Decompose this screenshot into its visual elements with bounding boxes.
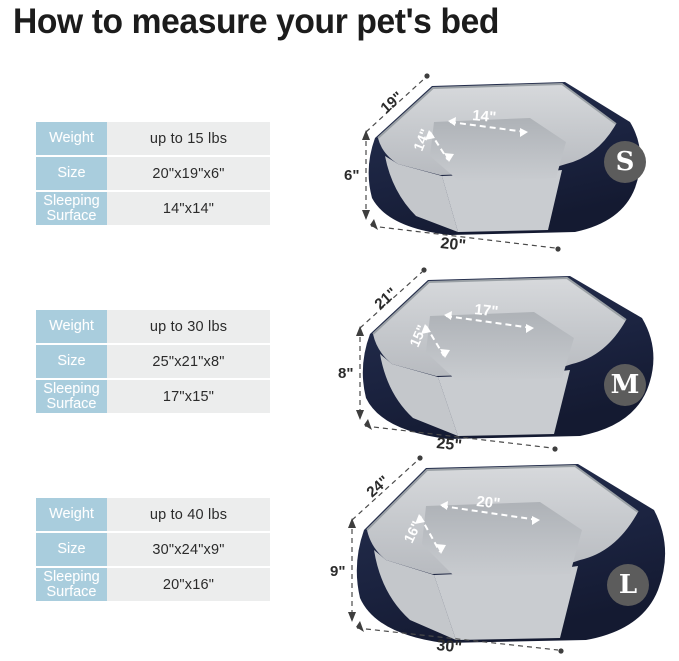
table-row: Size 20"x19"x6" — [36, 157, 270, 192]
spec-label-size: Size — [36, 345, 107, 380]
spec-value-sleeping-surface: 20"x16" — [107, 568, 270, 601]
inner-dim-label-width: 14" — [472, 107, 497, 126]
spec-table-large: Weight up to 40 lbs Size 30"x24"x9" Slee… — [36, 498, 270, 601]
spec-label-line2: Surface — [36, 397, 107, 412]
size-badge-large: L — [607, 564, 649, 606]
size-badge-small: S — [604, 141, 646, 183]
spec-label-sleeping-surface: Sleeping Surface — [36, 380, 107, 413]
dim-label-depth: 19" — [377, 89, 406, 117]
inner-dim-label-width: 17" — [474, 301, 499, 320]
infographic-page: How to measure your pet's bed Weight up … — [0, 0, 679, 661]
table-row: Sleeping Surface 17"x15" — [36, 380, 270, 413]
table-row: Weight up to 40 lbs — [36, 498, 270, 533]
spec-value-weight: up to 30 lbs — [107, 310, 270, 345]
spec-value-size: 20"x19"x6" — [107, 157, 270, 192]
inner-dim-label-width: 20" — [476, 493, 501, 512]
dim-label-depth: 24" — [363, 473, 392, 501]
spec-value-size: 25"x21"x8" — [107, 345, 270, 380]
spec-value-weight: up to 15 lbs — [107, 122, 270, 157]
spec-label-line1: Sleeping — [36, 570, 107, 585]
table-row: Sleeping Surface 20"x16" — [36, 568, 270, 601]
spec-label-weight: Weight — [36, 122, 107, 157]
spec-label-weight: Weight — [36, 310, 107, 345]
bed-drawing-medium-svg: 21" 8" 25" 15" 17" — [330, 258, 679, 456]
dim-label-height: 6" — [344, 167, 359, 184]
spec-label-weight: Weight — [36, 498, 107, 533]
table-row: Weight up to 30 lbs — [36, 310, 270, 345]
dim-label-height: 9" — [330, 563, 345, 580]
size-badge-medium: M — [604, 364, 646, 406]
spec-value-weight: up to 40 lbs — [107, 498, 270, 533]
spec-value-sleeping-surface: 17"x15" — [107, 380, 270, 413]
table-row: Sleeping Surface 14"x14" — [36, 192, 270, 225]
spec-value-sleeping-surface: 14"x14" — [107, 192, 270, 225]
spec-label-size: Size — [36, 157, 107, 192]
dim-label-height: 8" — [338, 365, 353, 382]
bed-illustration-medium: 21" 8" 25" 15" 17" — [330, 258, 679, 456]
spec-label-line1: Sleeping — [36, 382, 107, 397]
spec-label-size: Size — [36, 533, 107, 568]
spec-label-line2: Surface — [36, 209, 107, 224]
bed-illustration-large: 24" 9" 30" 16" 20" — [330, 448, 679, 658]
table-row: Weight up to 15 lbs — [36, 122, 270, 157]
dim-label-width: 20" — [440, 235, 467, 255]
dim-label-width: 30" — [436, 637, 463, 657]
spec-label-line1: Sleeping — [36, 194, 107, 209]
bed-drawing-large-svg: 24" 9" 30" 16" 20" — [330, 448, 679, 658]
spec-label-sleeping-surface: Sleeping Surface — [36, 568, 107, 601]
page-title: How to measure your pet's bed — [13, 2, 642, 42]
spec-value-size: 30"x24"x9" — [107, 533, 270, 568]
dim-label-depth: 21" — [371, 285, 400, 313]
table-row: Size 25"x21"x8" — [36, 345, 270, 380]
spec-label-sleeping-surface: Sleeping Surface — [36, 192, 107, 225]
spec-label-line2: Surface — [36, 585, 107, 600]
spec-table-medium: Weight up to 30 lbs Size 25"x21"x8" Slee… — [36, 310, 270, 413]
table-row: Size 30"x24"x9" — [36, 533, 270, 568]
spec-table-small: Weight up to 15 lbs Size 20"x19"x6" Slee… — [36, 122, 270, 225]
